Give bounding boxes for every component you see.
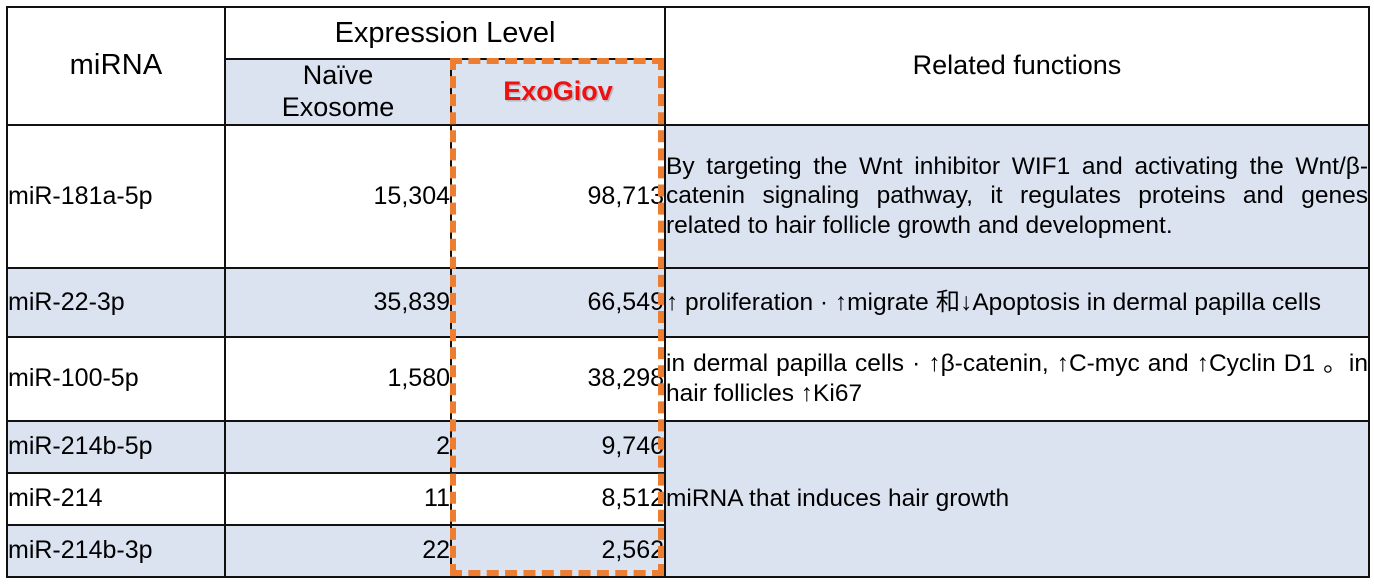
table-body: miR-181a-5p 15,304 98,713 By targeting t…: [7, 125, 1369, 577]
header-row-top: miRNA Expression Level Related functions: [7, 7, 1369, 59]
header-naive-exosome-line1: Naïve: [303, 60, 374, 90]
table-header: miRNA Expression Level Related functions…: [7, 7, 1369, 125]
cell-mirna-name: miR-214: [7, 473, 225, 525]
cell-exogiov-value: 2,562: [451, 525, 665, 577]
cell-naive-exosome-value: 22: [225, 525, 451, 577]
cell-related-function: in dermal papilla cells · ↑β-catenin, ↑C…: [665, 337, 1369, 420]
cell-exogiov-value: 66,549: [451, 268, 665, 337]
cell-naive-exosome-value: 11: [225, 473, 451, 525]
cell-mirna-name: miR-214b-5p: [7, 421, 225, 473]
cell-related-function-merged: miRNA that induces hair growth: [665, 421, 1369, 577]
cell-related-function: By targeting the Wnt inhibitor WIF1 and …: [665, 125, 1369, 268]
header-mirna: miRNA: [7, 7, 225, 125]
header-related-functions: Related functions: [665, 7, 1369, 125]
table-row: miR-214b-5p 2 9,746 miRNA that induces h…: [7, 421, 1369, 473]
header-naive-exosome-line2: Exosome: [282, 92, 395, 122]
cell-exogiov-value: 98,713: [451, 125, 665, 268]
cell-mirna-name: miR-181a-5p: [7, 125, 225, 268]
cell-mirna-name: miR-22-3p: [7, 268, 225, 337]
cell-naive-exosome-value: 1,580: [225, 337, 451, 420]
table-row: miR-100-5p 1,580 38,298 in dermal papill…: [7, 337, 1369, 420]
cell-naive-exosome-value: 35,839: [225, 268, 451, 337]
cell-exogiov-value: 8,512: [451, 473, 665, 525]
cell-mirna-name: miR-100-5p: [7, 337, 225, 420]
cell-naive-exosome-value: 15,304: [225, 125, 451, 268]
table-row: miR-181a-5p 15,304 98,713 By targeting t…: [7, 125, 1369, 268]
cell-exogiov-value: 38,298: [451, 337, 665, 420]
table-screenshot: miRNA Expression Level Related functions…: [0, 0, 1374, 585]
cell-naive-exosome-value: 2: [225, 421, 451, 473]
mirna-expression-table: miRNA Expression Level Related functions…: [6, 6, 1370, 578]
header-naive-exosome: Naïve Exosome: [225, 59, 451, 125]
table-row: miR-22-3p 35,839 66,549 ↑ proliferation …: [7, 268, 1369, 337]
cell-exogiov-value: 9,746: [451, 421, 665, 473]
cell-related-function: ↑ proliferation · ↑migrate 和↓Apoptosis i…: [665, 268, 1369, 337]
cell-mirna-name: miR-214b-3p: [7, 525, 225, 577]
header-exogiov: ExoGiov: [451, 59, 665, 125]
header-expression-level: Expression Level: [225, 7, 665, 59]
